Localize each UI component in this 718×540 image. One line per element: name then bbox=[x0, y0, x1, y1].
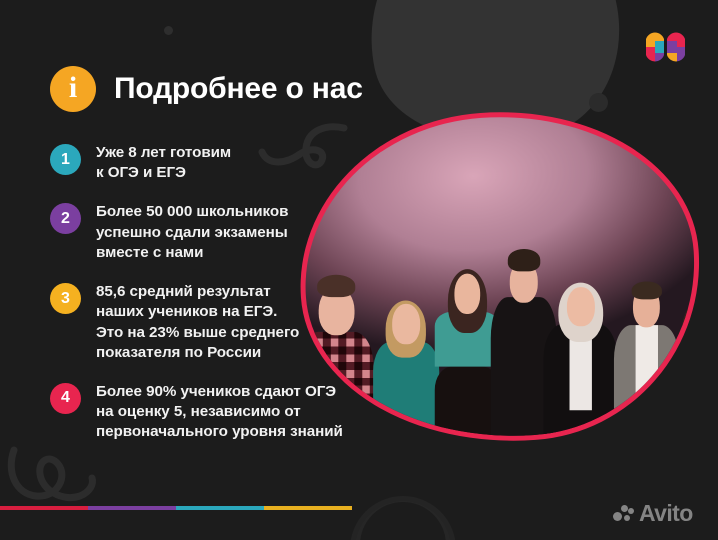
info-icon: i bbox=[50, 66, 96, 112]
page-header: i Подробнее о нас bbox=[50, 66, 363, 112]
person bbox=[614, 238, 680, 450]
person bbox=[670, 261, 705, 451]
avito-watermark-label: Avito bbox=[639, 502, 693, 525]
list-item-text: Уже 8 лет готовим к ОГЭ и ЕГЭ bbox=[96, 143, 231, 183]
person bbox=[434, 244, 500, 450]
list-item-text: Более 50 000 школьников успешно сдали эк… bbox=[96, 202, 288, 263]
person bbox=[544, 249, 618, 450]
info-icon-glyph: i bbox=[69, 73, 77, 103]
accent-segment bbox=[0, 506, 88, 510]
photo-scene bbox=[294, 104, 705, 450]
photo-blob-clip bbox=[294, 104, 705, 450]
avito-watermark: Avito bbox=[613, 502, 693, 525]
team-group-photo bbox=[300, 112, 700, 442]
slide-canvas: i Подробнее о нас 1 Уже 8 лет готовим к … bbox=[0, 0, 718, 540]
company-logo-icon bbox=[644, 28, 688, 66]
list-item-number-badge: 3 bbox=[50, 283, 81, 314]
list-item-number-badge: 1 bbox=[50, 144, 81, 175]
people-group bbox=[294, 177, 705, 451]
list-item-number-badge: 2 bbox=[50, 203, 81, 234]
background-ring-right bbox=[350, 496, 456, 540]
background-dot-small bbox=[164, 26, 173, 35]
page-title: Подробнее о нас bbox=[114, 72, 363, 106]
accent-color-bar bbox=[0, 506, 352, 510]
accent-segment bbox=[264, 506, 352, 510]
avito-dots-icon bbox=[613, 505, 634, 522]
person bbox=[299, 255, 373, 450]
accent-segment bbox=[88, 506, 176, 510]
person bbox=[373, 266, 439, 450]
list-item-text: 85,6 средний результат наших учеников на… bbox=[96, 282, 299, 363]
list-item-number-badge: 4 bbox=[50, 383, 81, 414]
accent-segment bbox=[176, 506, 264, 510]
